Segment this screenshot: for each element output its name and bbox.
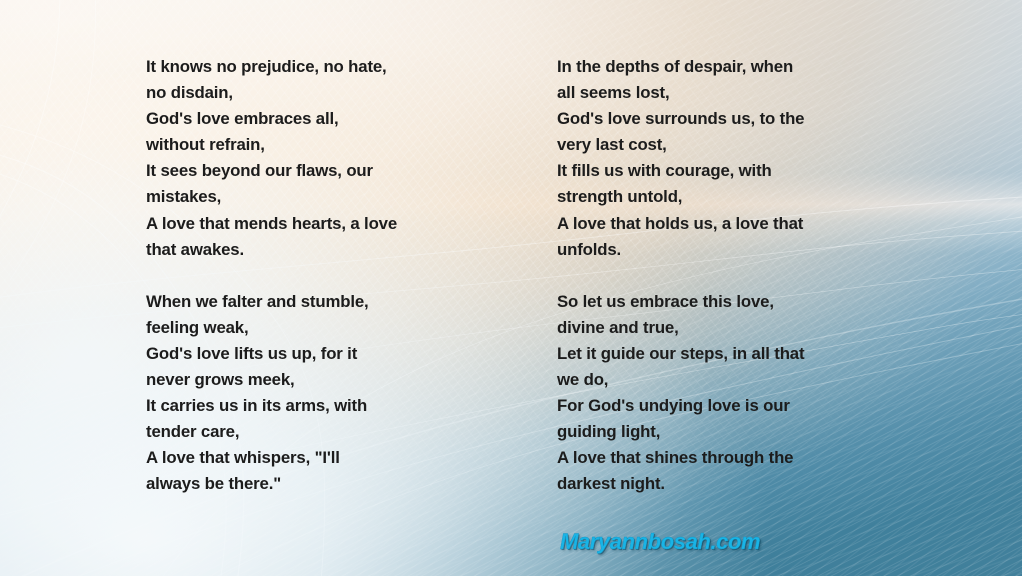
poem-line: When we falter and stumble, [146,289,446,315]
poem-stanza: So let us embrace this love, divine and … [557,289,857,498]
poem-line: It knows no prejudice, no hate, [146,54,446,80]
poem-column-right: In the depths of despair, when all seems… [557,54,857,524]
poem-line: tender care, [146,419,446,445]
poem-line: feeling weak, [146,315,446,341]
poem-line: A love that holds us, a love that [557,211,857,237]
poem-poster: It knows no prejudice, no hate, no disda… [0,0,1022,576]
poem-line: never grows meek, [146,367,446,393]
poem-line: unfolds. [557,237,857,263]
poem-line: God's love lifts us up, for it [146,341,446,367]
poem-line: A love that mends hearts, a love [146,211,446,237]
signature-watermark[interactable]: Maryannbosah.com [560,529,760,555]
poem-line: very last cost, [557,132,857,158]
poem-line: we do, [557,367,857,393]
poem-line: guiding light, [557,419,857,445]
poem-body: It knows no prejudice, no hate, no disda… [0,0,1022,576]
poem-line: Let it guide our steps, in all that [557,341,857,367]
poem-line: divine and true, [557,315,857,341]
poem-line: A love that shines through the [557,445,857,471]
poem-line: darkest night. [557,471,857,497]
poem-line: In the depths of despair, when [557,54,857,80]
poem-line: without refrain, [146,132,446,158]
poem-line: For God's undying love is our [557,393,857,419]
poem-stanza: It knows no prejudice, no hate, no disda… [146,54,446,263]
poem-line: A love that whispers, "I'll [146,445,446,471]
poem-line: always be there." [146,471,446,497]
poem-line: that awakes. [146,237,446,263]
poem-stanza: In the depths of despair, when all seems… [557,54,857,263]
poem-line: It sees beyond our flaws, our [146,158,446,184]
poem-line: strength untold, [557,184,857,210]
poem-line: So let us embrace this love, [557,289,857,315]
poem-line: It carries us in its arms, with [146,393,446,419]
poem-line: no disdain, [146,80,446,106]
poem-line: God's love embraces all, [146,106,446,132]
poem-line: It fills us with courage, with [557,158,857,184]
poem-line: mistakes, [146,184,446,210]
poem-column-left: It knows no prejudice, no hate, no disda… [146,54,446,524]
poem-stanza: When we falter and stumble, feeling weak… [146,289,446,498]
poem-line: God's love surrounds us, to the [557,106,857,132]
poem-line: all seems lost, [557,80,857,106]
